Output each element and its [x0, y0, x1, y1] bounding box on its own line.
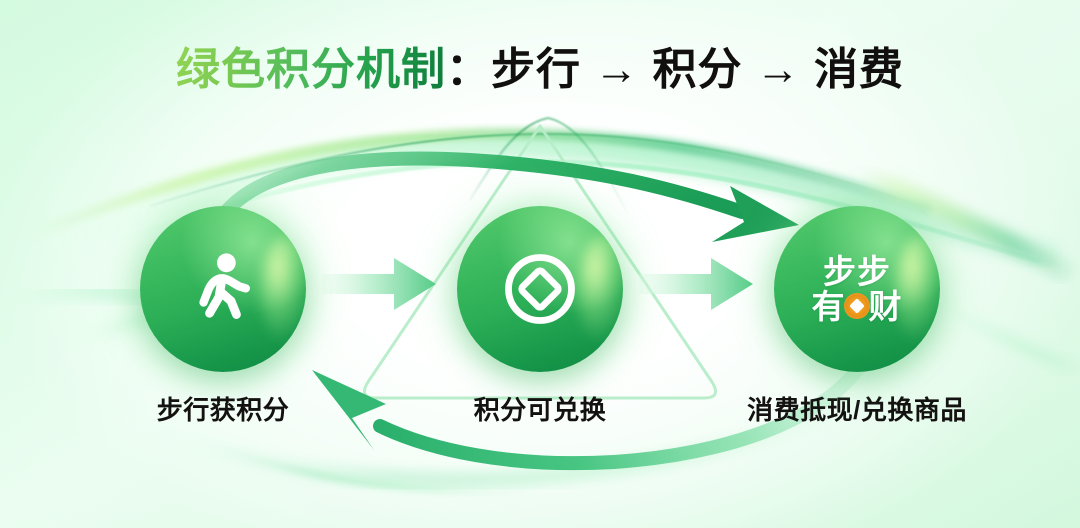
coin-icon — [498, 247, 582, 331]
points-bubble[interactable] — [457, 206, 623, 372]
step-points-label: 积分可兑换 — [457, 390, 623, 427]
title-green-part: 绿色积分机制 — [176, 45, 446, 94]
step-points[interactable]: 积分可兑换 — [457, 206, 623, 427]
brand-coin-icon — [844, 293, 870, 319]
arrow-points-to-spend — [639, 254, 755, 314]
brand-top-text: 步步 — [812, 255, 903, 289]
walk-bubble[interactable] — [140, 206, 306, 372]
step-spend[interactable]: 步步 有 财 消费抵现/兑换商品 — [774, 206, 940, 427]
brand-logo-icon: 步步 有 财 — [812, 255, 903, 323]
brand-bottom-left: 有 — [812, 290, 846, 324]
slide-canvas: 绿色积分机制：步行 → 积分 → 消费 — [0, 0, 1080, 528]
brand-bottom-row: 有 财 — [812, 290, 903, 324]
step-walk[interactable]: 步行获积分 — [140, 206, 306, 427]
brand-bottom-right: 财 — [869, 290, 903, 324]
page-title: 绿色积分机制：步行 → 积分 → 消费 — [0, 48, 1080, 92]
spend-bubble[interactable]: 步步 有 财 — [774, 206, 940, 372]
step-walk-label: 步行获积分 — [140, 390, 306, 427]
arrow-walk-to-points — [322, 254, 438, 314]
walking-person-icon — [180, 246, 266, 332]
title-black-part: ：步行 → 积分 → 消费 — [446, 45, 904, 94]
step-spend-label: 消费抵现/兑换商品 — [727, 390, 987, 427]
